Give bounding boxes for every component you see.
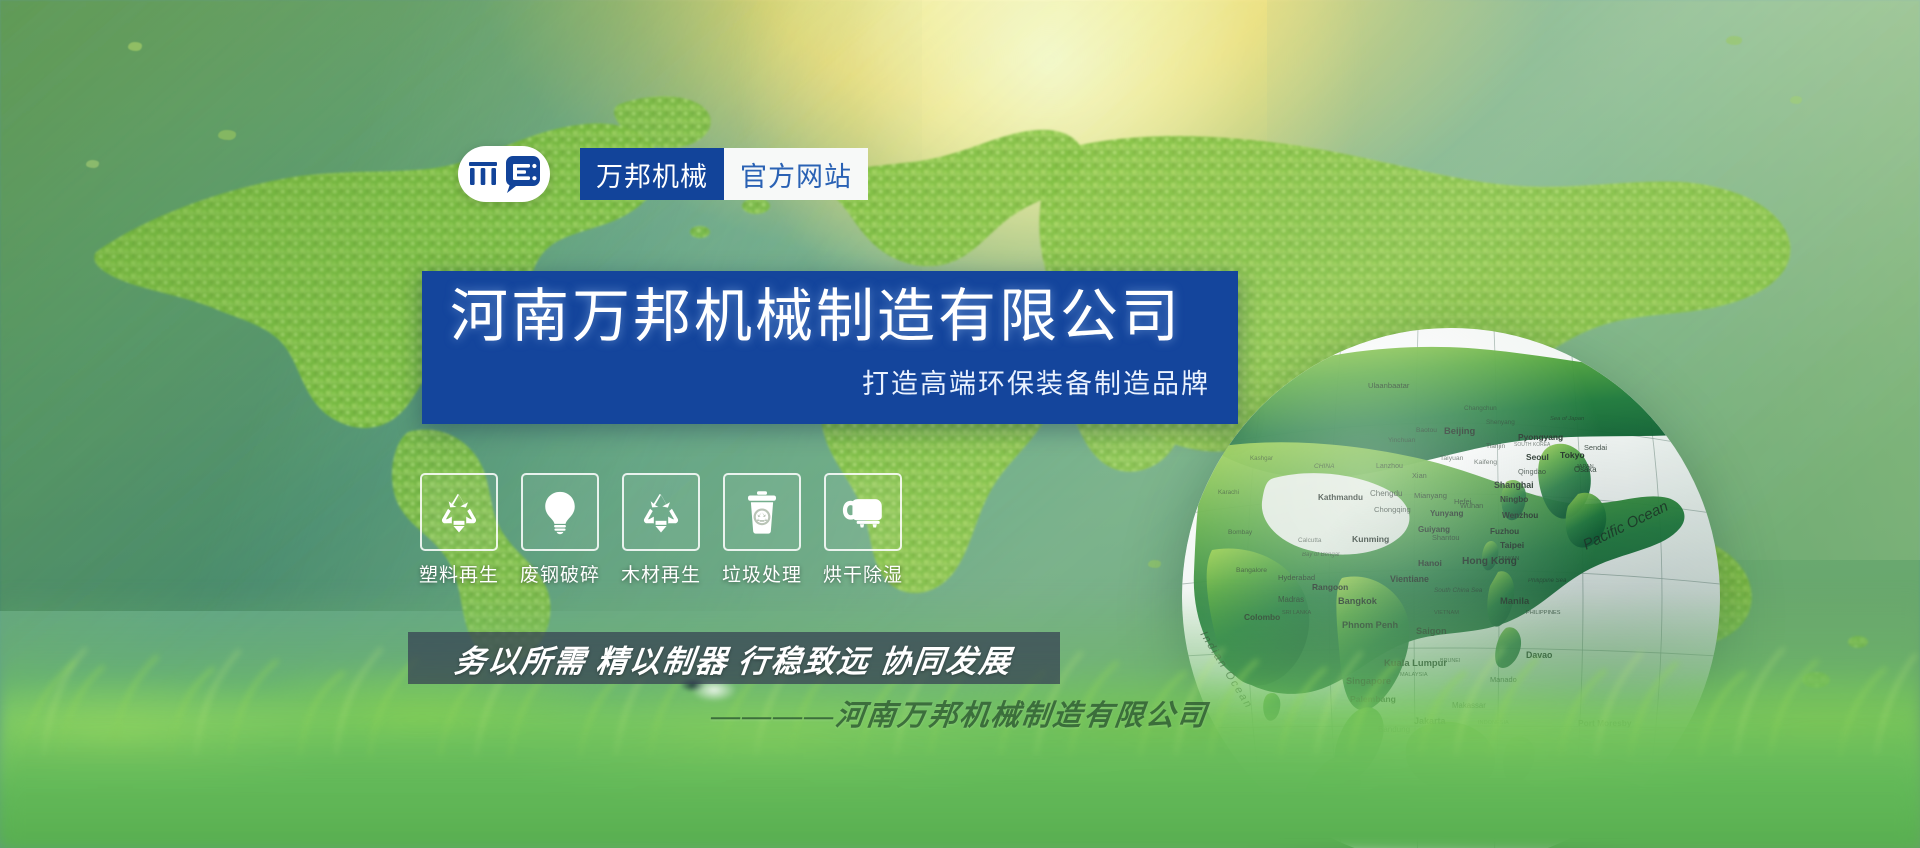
feature-wood-recycling[interactable]: 木材再生 [622,473,700,587]
svg-text:Kaifeng: Kaifeng [1474,459,1497,466]
svg-text:Ulaanbaatar: Ulaanbaatar [1368,381,1410,390]
feature-scrap-steel-shredding[interactable]: 废钢破碎 [521,473,599,587]
svg-text:Tokyo: Tokyo [1560,450,1585,460]
header-tabs: 万邦机械 官方网站 [580,148,868,200]
svg-text:Kashgar: Kashgar [1250,455,1273,462]
tab-label: 万邦机械 [596,155,708,194]
svg-text:Hong Kong: Hong Kong [1462,556,1517,567]
logo-e-icon [502,154,542,194]
svg-text:Fuzhou: Fuzhou [1490,527,1519,536]
recycle-icon [436,489,482,535]
lightbulb-icon [537,489,583,535]
svg-text:Ningbo: Ningbo [1500,495,1528,504]
svg-text:Mianyang: Mianyang [1414,491,1447,500]
svg-text:JAPAN: JAPAN [1576,464,1594,470]
svg-text:Wenzhou: Wenzhou [1502,511,1538,520]
banner-subtitle: 打造高端环保装备制造品牌 [422,362,1210,401]
leaf-fleck [128,42,142,51]
feature-label: 烘干除湿 [823,560,903,587]
feature-label: 废钢破碎 [520,560,600,587]
slogan-text: 务以所需 精以制器 行稳致远 协同发展 [453,636,1016,681]
svg-text:Beijing: Beijing [1444,425,1476,436]
svg-text:Taiyuan: Taiyuan [1440,455,1464,462]
svg-text:Lanzhou: Lanzhou [1376,463,1403,470]
company-banner: 河南万邦机械制造有限公司 打造高端环保装备制造品牌 [422,271,1238,424]
tab-official-site[interactable]: 官方网站 [724,148,868,200]
svg-text:Seoul: Seoul [1526,452,1549,462]
feature-waste-treatment[interactable]: 垃圾处理 [723,473,801,587]
feature-plastic-recycling[interactable]: 塑料再生 [420,473,498,587]
leaf-fleck [1726,36,1742,45]
svg-text:Kunming: Kunming [1352,534,1389,544]
slogan-attribution: ————河南万邦机械制造有限公司 [677,692,1242,734]
leaf-fleck [1148,560,1161,568]
svg-text:CHINA: CHINA [1314,463,1335,470]
grass-front-blur [0,718,1920,848]
feature-label: 塑料再生 [419,560,499,587]
svg-text:Calcutta: Calcutta [1298,537,1322,544]
trash-bin-icon [739,489,785,535]
feature-icon-row: 塑料再生 废钢破碎 [420,473,902,587]
feature-icon-box [824,473,902,551]
hero-banner-stage: Ulaanbaatar Beijing Baotou Yinchuan Chan… [0,0,1920,848]
svg-text:Guiyang: Guiyang [1418,525,1450,534]
tab-wanbang-jixie[interactable]: 万邦机械 [580,148,724,200]
svg-text:Baotou: Baotou [1416,427,1437,434]
svg-text:Hanoi: Hanoi [1418,558,1442,568]
svg-text:Pyongyang: Pyongyang [1518,432,1563,442]
svg-text:SOUTH KOREA: SOUTH KOREA [1514,442,1551,448]
svg-text:Shantou: Shantou [1432,533,1460,542]
leaf-fleck [86,160,99,168]
svg-text:Bombay: Bombay [1228,529,1253,536]
svg-text:Hyderabad: Hyderabad [1278,573,1315,582]
page-title: 河南万邦机械制造有限公司 [422,287,1210,348]
svg-text:Tianjin: Tianjin [1486,443,1506,450]
svg-text:Karachi: Karachi [1218,489,1239,496]
svg-text:Changchun: Changchun [1464,405,1497,412]
svg-text:Philippine Sea: Philippine Sea [1528,578,1567,584]
svg-text:Chongqing: Chongqing [1374,505,1411,514]
svg-text:Shanghai: Shanghai [1494,480,1534,490]
feature-icon-box [622,473,700,551]
site-header: 万邦机械 官方网站 [458,146,868,202]
feature-icon-box [521,473,599,551]
feature-label: 垃圾处理 [722,560,802,587]
svg-text:Vientiane: Vientiane [1390,574,1429,584]
slogan-band: 务以所需 精以制器 行稳致远 协同发展 [408,632,1060,684]
svg-text:Shenyang: Shenyang [1486,419,1515,426]
wanbang-logo[interactable] [458,146,550,202]
svg-text:Xian: Xian [1412,471,1427,480]
logo-w-icon [467,159,499,189]
svg-text:Qingdao: Qingdao [1518,467,1546,476]
svg-text:Sea of Japan: Sea of Japan [1550,416,1584,422]
tab-label: 官方网站 [740,155,852,194]
svg-text:Sendai: Sendai [1584,443,1607,452]
feature-drying-dehumidifying[interactable]: 烘干除湿 [824,473,902,587]
feature-icon-box [420,473,498,551]
svg-text:Kathmandu: Kathmandu [1318,493,1363,502]
svg-text:Chengdu: Chengdu [1370,489,1402,498]
dryer-icon [840,489,886,535]
svg-text:Bay of Bengal: Bay of Bengal [1302,552,1340,558]
feature-label: 木材再生 [621,560,701,587]
svg-text:Yunyang: Yunyang [1430,509,1463,518]
leaf-fleck [1790,96,1802,104]
svg-text:Bangalore: Bangalore [1236,567,1267,574]
recycle-icon [638,489,684,535]
leaf-fleck [218,130,236,140]
svg-text:Taipei: Taipei [1500,540,1524,550]
feature-icon-box [723,473,801,551]
svg-text:Wuhan: Wuhan [1460,501,1483,510]
svg-text:Yinchuan: Yinchuan [1388,437,1416,444]
